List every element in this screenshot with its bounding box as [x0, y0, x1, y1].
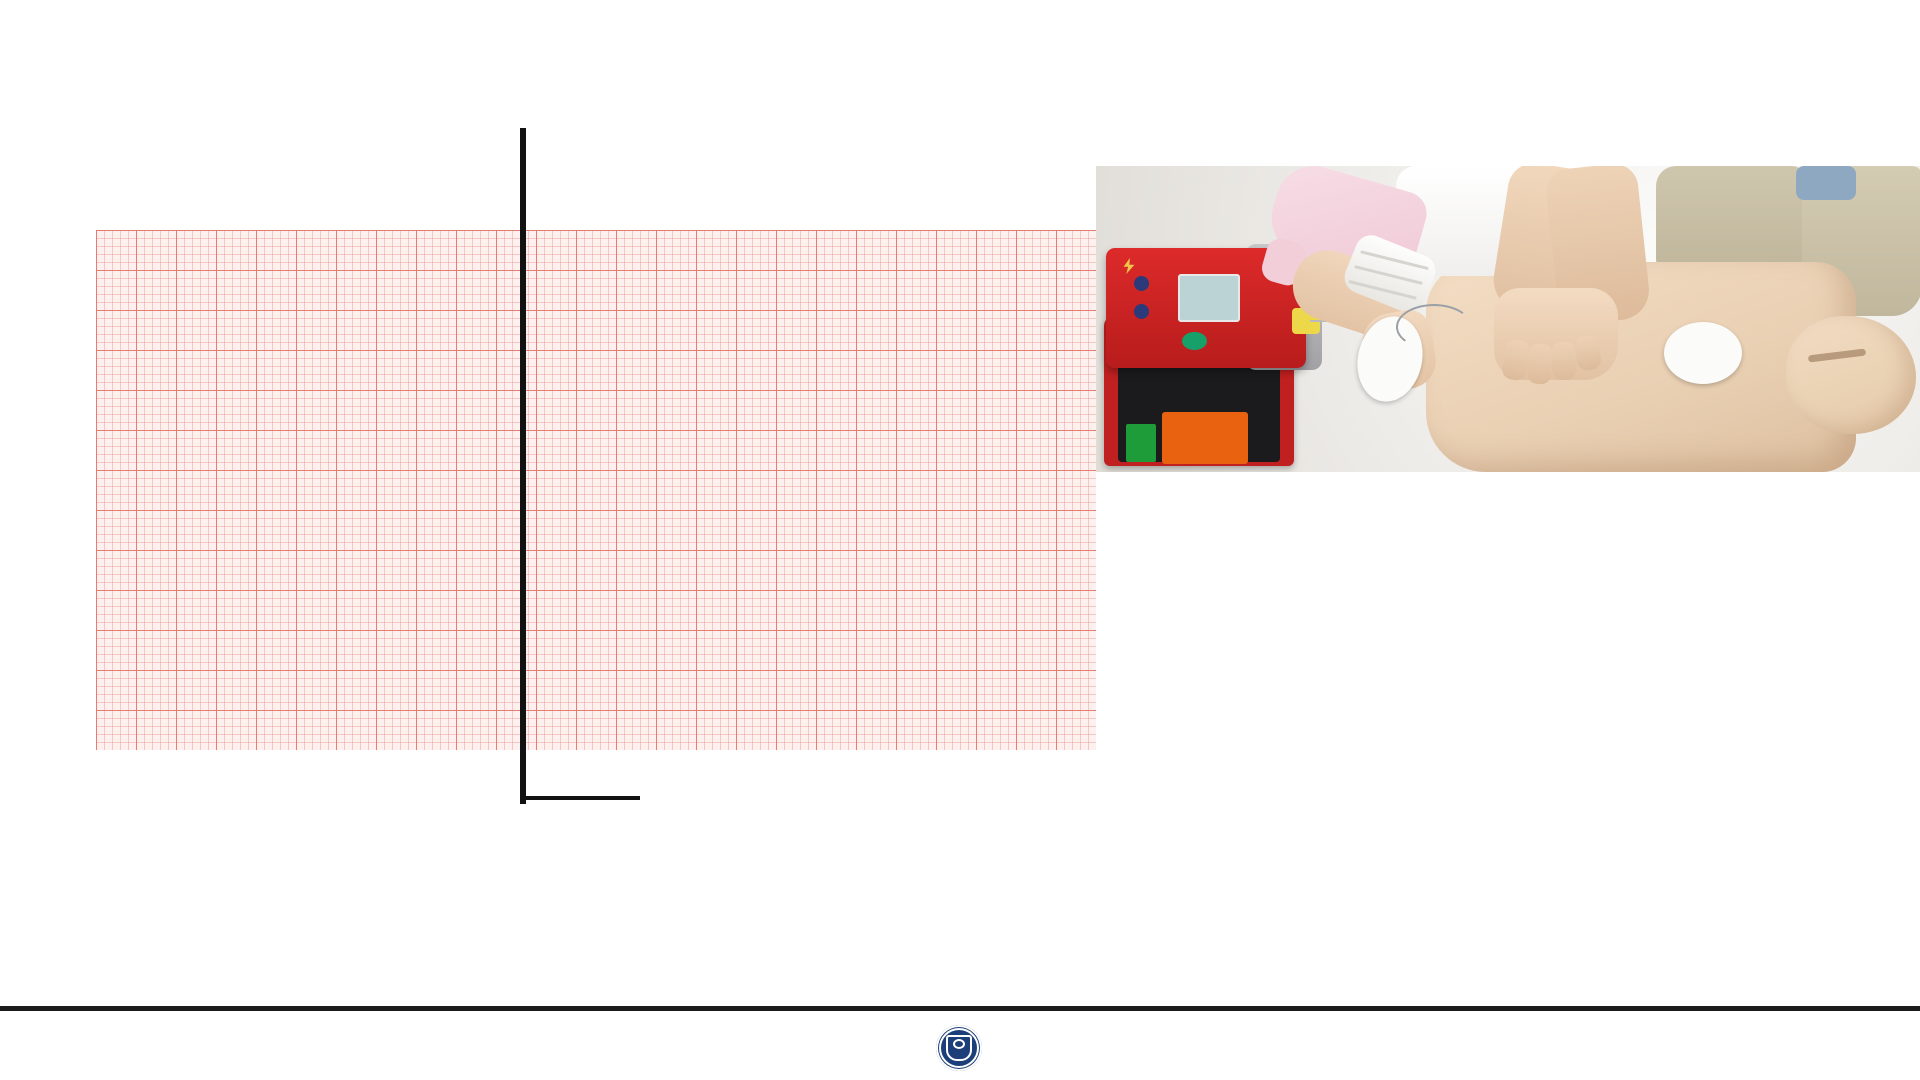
cpr-aed-photo — [1096, 166, 1920, 472]
photo-bandage-line-1 — [1360, 250, 1429, 270]
photo-manikin-head — [1786, 316, 1916, 434]
photo-aed-screen — [1178, 274, 1240, 322]
photo-pad-wire — [1396, 304, 1472, 350]
photo-compressor-hands — [1494, 288, 1618, 380]
ecg-waveform-traces — [96, 120, 1106, 810]
photo-rescuer-shirt — [1796, 166, 1856, 200]
photo-aed-shock-button — [1182, 332, 1207, 350]
photo-aed-shock-icon — [1120, 258, 1138, 274]
seal-shield — [946, 1035, 972, 1061]
photo-aed-button-2 — [1134, 304, 1149, 319]
photo-bandage-line-2 — [1354, 265, 1423, 285]
photo-aed-button-1 — [1134, 276, 1149, 291]
footer-banner — [0, 1011, 1920, 1080]
photo-finger-3 — [1551, 342, 1576, 381]
ecg-event-marker-bar — [520, 128, 526, 804]
seal-ring — [939, 1028, 979, 1068]
ecg-event-marker-foot — [520, 796, 640, 800]
photo-finger-2 — [1527, 343, 1554, 385]
slide-canvas — [0, 0, 1920, 1080]
ecg-strip — [96, 120, 1106, 810]
photo-case-green-tag — [1126, 424, 1156, 462]
photo-case-pocket — [1162, 412, 1248, 464]
photo-finger-4 — [1574, 334, 1602, 371]
photo-aed-pad-lateral — [1664, 322, 1742, 384]
yonsei-university-seal-icon — [936, 1025, 982, 1071]
